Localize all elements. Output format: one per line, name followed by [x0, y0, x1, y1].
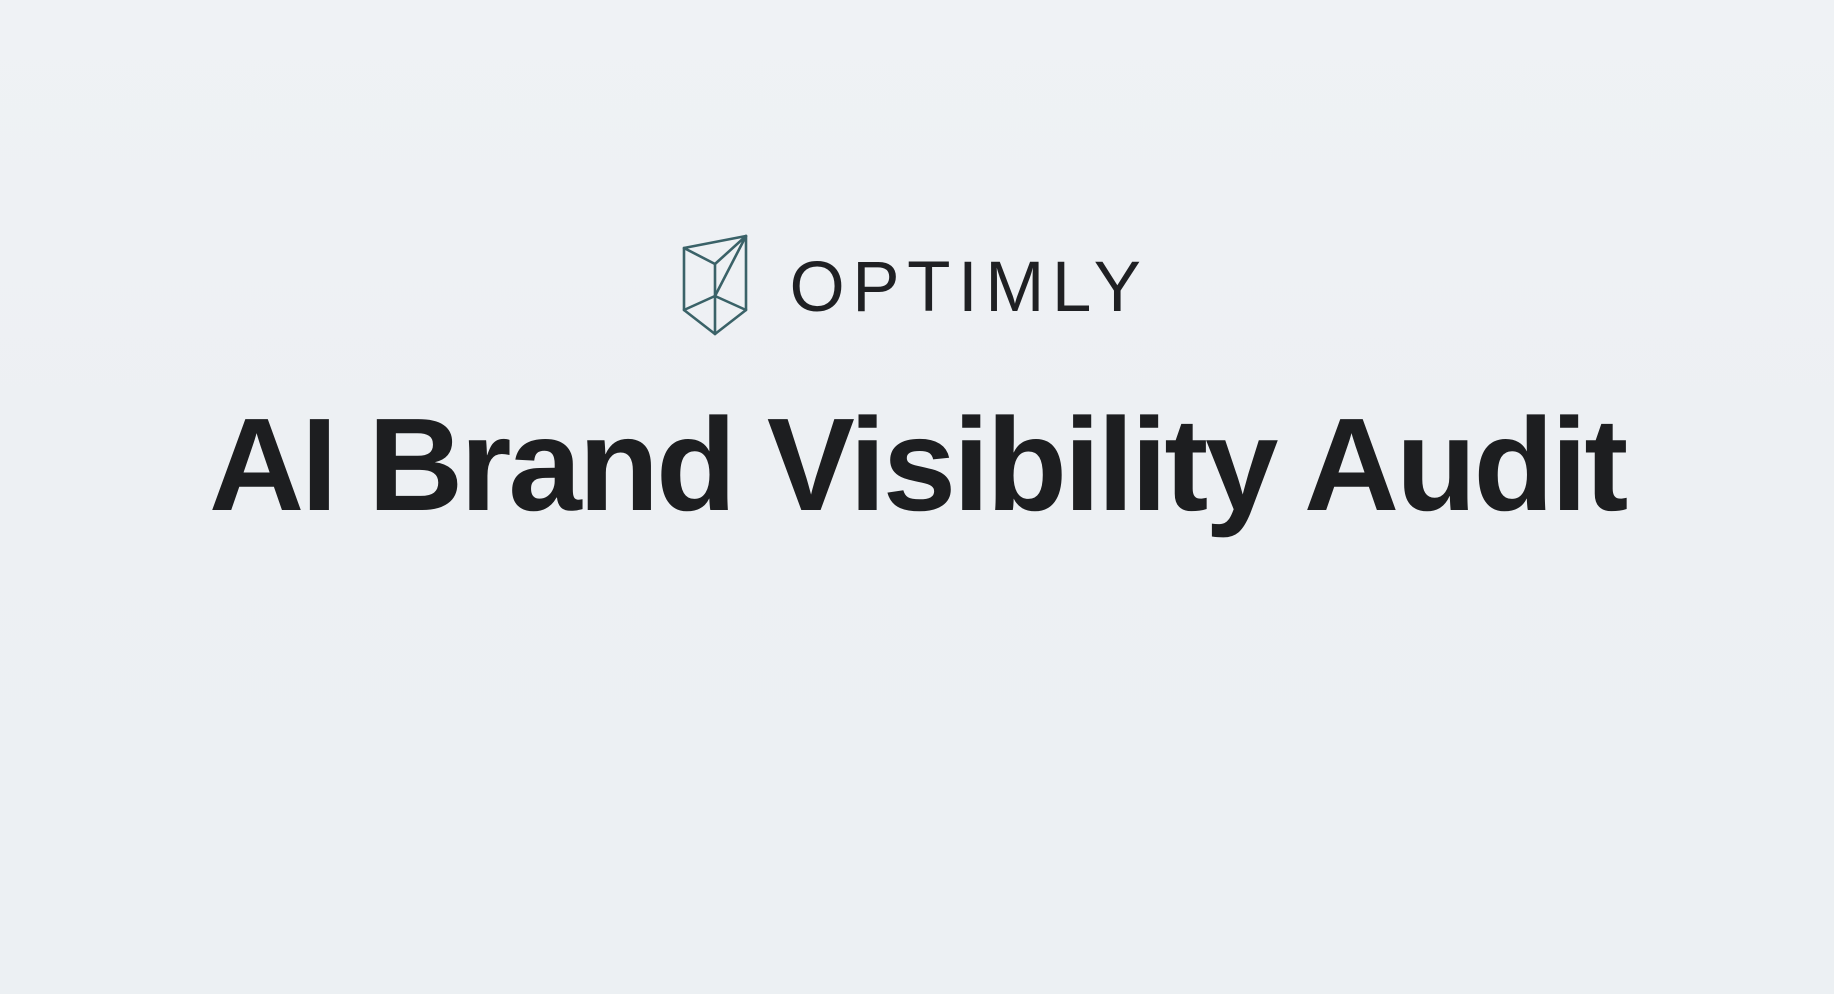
brand-wordmark: OPTIMLY: [790, 252, 1157, 323]
brand-lockup: OPTIMLY: [0, 210, 1834, 360]
title-slide: OPTIMLY AI Brand Visibility Audit: [0, 0, 1834, 994]
page-title: AI Brand Visibility Audit: [209, 395, 1625, 535]
prism-logo-icon: [678, 234, 752, 338]
hero-title-container: AI Brand Visibility Audit: [0, 395, 1834, 535]
